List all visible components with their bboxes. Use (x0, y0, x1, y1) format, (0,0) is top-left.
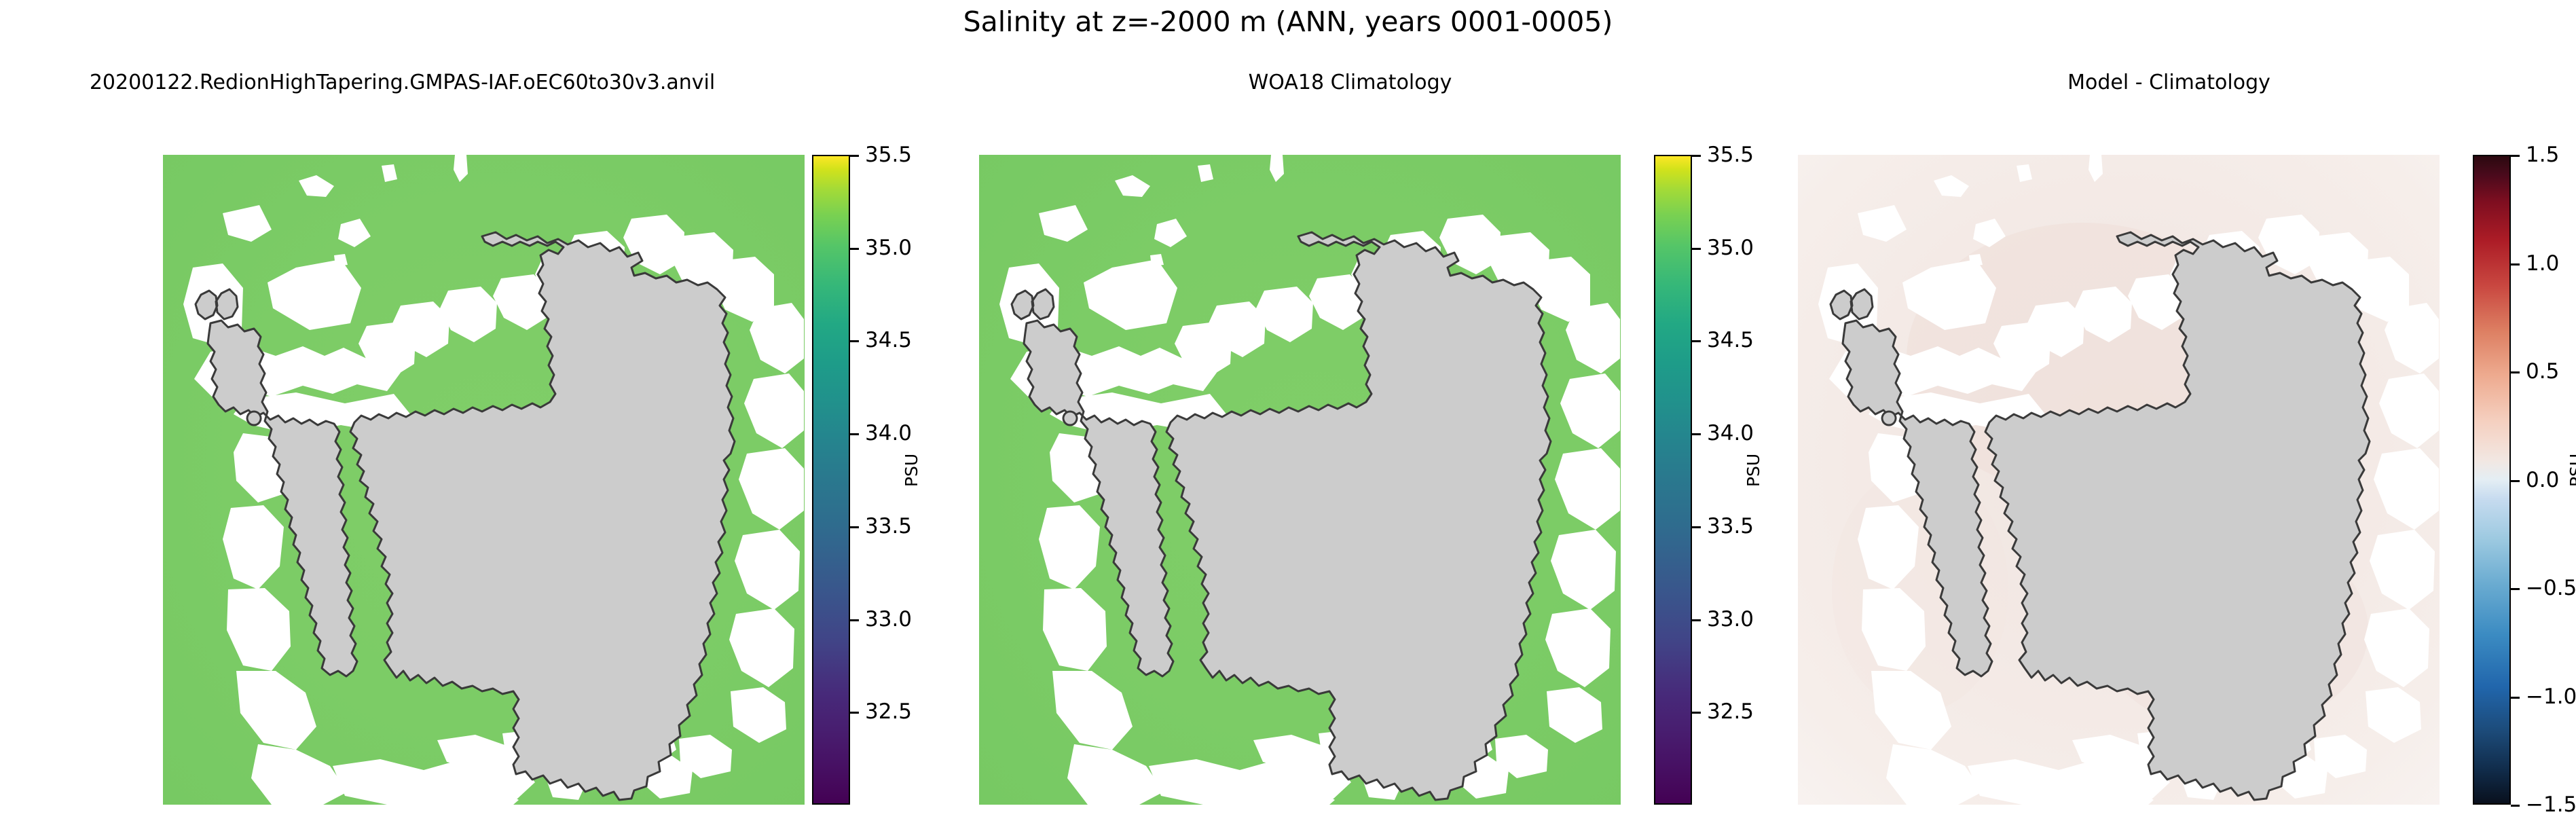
colorbar-difference-tick-6 (2511, 805, 2520, 807)
colorbar-climatology-tick-1 (1692, 248, 1701, 250)
colorbar-model-ticklabel-1: 35.0 (865, 236, 912, 260)
colorbar-difference: 1.5 1.0 0.5 0.0 −0.5 −1.0 −1.5 PSU (2473, 155, 2576, 805)
colorbar-difference-ticklabel-4: −0.5 (2526, 576, 2576, 600)
map-climatology-svg (979, 155, 1621, 805)
panel-title-model: 20200122.RedionHighTapering.GMPAS-IAF.oE… (0, 71, 805, 94)
panel-model: 20200122.RedionHighTapering.GMPAS-IAF.oE… (0, 71, 805, 807)
colorbar-difference-tick-0 (2511, 155, 2520, 157)
colorbar-model-tick-2 (850, 340, 859, 342)
colorbar-difference-ticklabel-2: 0.5 (2526, 359, 2559, 384)
colorbar-difference-ticklabel-0: 1.5 (2526, 143, 2559, 167)
colorbar-difference-ticklabel-5: −1.0 (2526, 684, 2576, 709)
colorbar-model-tick-4 (850, 526, 859, 528)
colorbar-difference-unit: PSU (2566, 454, 2576, 487)
colorbar-climatology-tick-4 (1692, 526, 1701, 528)
colorbar-difference-ticklabel-1: 1.0 (2526, 251, 2559, 276)
small-island-difference (1882, 411, 1896, 425)
colorbar-model-tick-6 (850, 712, 859, 714)
figure-title: Salinity at z=-2000 m (ANN, years 0001-0… (0, 5, 2576, 38)
colorbar-climatology-ticklabel-6: 32.5 (1707, 699, 1754, 724)
colorbar-model-tick-5 (850, 619, 859, 621)
colorbar-climatology-gradient[interactable] (1654, 155, 1692, 805)
colorbar-climatology-unit: PSU (1744, 454, 1763, 487)
colorbar-model-ticklabel-0: 35.5 (865, 143, 912, 167)
colorbar-model-unit: PSU (902, 454, 921, 487)
colorbar-climatology-ticklabel-0: 35.5 (1707, 143, 1754, 167)
colorbar-model-tick-1 (850, 248, 859, 250)
panel-climatology: WOA18 Climatology (948, 71, 1752, 807)
colorbar-climatology-ticklabel-2: 34.5 (1707, 328, 1754, 352)
colorbar-difference-tick-5 (2511, 697, 2520, 699)
small-island-climatology (1063, 411, 1077, 425)
colorbar-model-tick-3 (850, 433, 859, 435)
colorbar-difference-tick-1 (2511, 263, 2520, 266)
colorbar-climatology-ticklabel-1: 35.0 (1707, 236, 1754, 260)
colorbar-difference-tick-2 (2511, 371, 2520, 373)
colorbar-climatology-ticklabel-5: 33.0 (1707, 607, 1754, 632)
map-difference-svg (1798, 155, 2440, 805)
panel-difference: Model - Climatology (1767, 71, 2571, 807)
colorbar-model-ticklabel-3: 34.0 (865, 421, 912, 445)
colorbar-climatology-ticklabel-3: 34.0 (1707, 421, 1754, 445)
colorbar-difference-gradient[interactable] (2473, 155, 2511, 805)
colorbar-model-ticklabel-6: 32.5 (865, 699, 912, 724)
map-model-svg (163, 155, 805, 805)
colorbar-climatology-tick-5 (1692, 619, 1701, 621)
colorbar-climatology-tick-3 (1692, 433, 1701, 435)
colorbar-model: 35.5 35.0 34.5 34.0 33.5 33.0 32.5 PSU (812, 155, 948, 805)
colorbar-climatology-tick-2 (1692, 340, 1701, 342)
colorbar-model-ticklabel-5: 33.0 (865, 607, 912, 632)
panel-title-difference: Model - Climatology (1767, 71, 2571, 94)
map-climatology[interactable] (979, 155, 1621, 805)
colorbar-climatology-ticklabel-4: 33.5 (1707, 514, 1754, 538)
map-model[interactable] (163, 155, 805, 805)
colorbar-difference-ticklabel-6: −1.5 (2526, 792, 2576, 817)
colorbar-climatology-tick-6 (1692, 712, 1701, 714)
colorbar-difference-ticklabel-3: 0.0 (2526, 468, 2559, 492)
small-island-model (247, 411, 261, 425)
colorbar-difference-tick-4 (2511, 588, 2520, 590)
map-difference[interactable] (1798, 155, 2440, 805)
colorbar-model-ticklabel-4: 33.5 (865, 514, 912, 538)
colorbar-model-tick-0 (850, 155, 859, 157)
colorbar-model-gradient[interactable] (812, 155, 850, 805)
panel-title-climatology: WOA18 Climatology (948, 71, 1752, 94)
colorbar-climatology-tick-0 (1692, 155, 1701, 157)
colorbar-model-ticklabel-2: 34.5 (865, 328, 912, 352)
colorbar-difference-tick-3 (2511, 480, 2520, 482)
